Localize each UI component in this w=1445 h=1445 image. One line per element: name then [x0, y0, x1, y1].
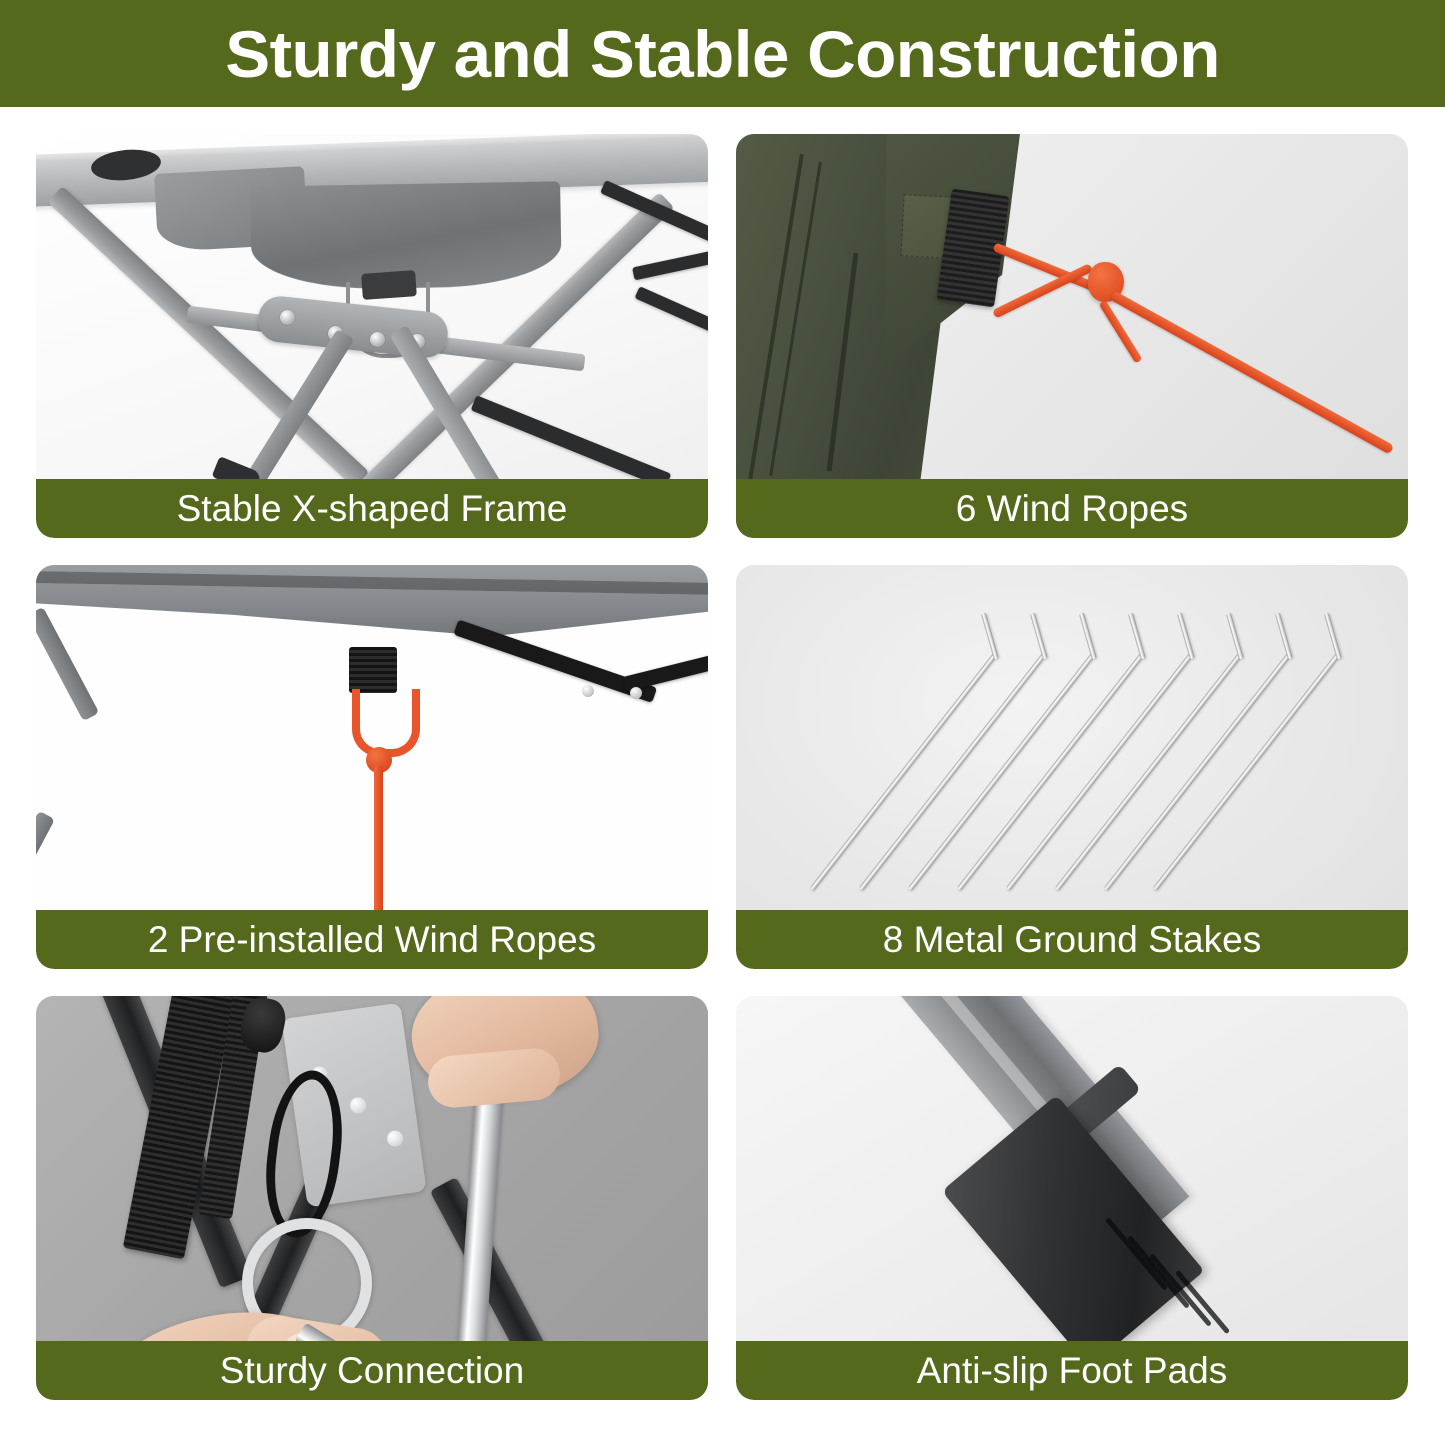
caption-label: 2 Pre-installed Wind Ropes: [148, 921, 596, 958]
caption-label: Anti-slip Foot Pads: [917, 1352, 1228, 1389]
caption-label: Stable X-shaped Frame: [177, 490, 568, 527]
caption-bar-ground-stakes: 8 Metal Ground Stakes: [736, 910, 1408, 969]
feature-panel-wind-ropes[interactable]: 6 Wind Ropes: [736, 134, 1408, 538]
feature-panel-ground-stakes[interactable]: 8 Metal Ground Stakes: [736, 565, 1408, 969]
caption-label: 8 Metal Ground Stakes: [883, 921, 1261, 958]
feature-panel-grid: Stable X-shaped Frame 6 Wind Ropes: [36, 134, 1408, 1400]
caption-bar-x-frame: Stable X-shaped Frame: [36, 479, 708, 538]
feature-panel-sturdy-connection[interactable]: Sturdy Connection: [36, 996, 708, 1400]
caption-bar-sturdy-connection: Sturdy Connection: [36, 1341, 708, 1400]
header-banner: Sturdy and Stable Construction: [0, 0, 1445, 107]
product-photo-preinstalled-ropes: [36, 565, 708, 969]
feature-panel-foot-pads[interactable]: Anti-slip Foot Pads: [736, 996, 1408, 1400]
product-photo-x-frame: [36, 134, 708, 538]
caption-bar-wind-ropes: 6 Wind Ropes: [736, 479, 1408, 538]
feature-panel-x-frame[interactable]: Stable X-shaped Frame: [36, 134, 708, 538]
product-photo-wind-ropes: [736, 134, 1408, 538]
caption-bar-preinstalled-ropes: 2 Pre-installed Wind Ropes: [36, 910, 708, 969]
product-photo-foot-pads: [736, 996, 1408, 1400]
product-photo-sturdy-connection: [36, 996, 708, 1400]
page-title: Sturdy and Stable Construction: [225, 21, 1220, 87]
caption-label: Sturdy Connection: [220, 1352, 524, 1389]
product-photo-ground-stakes: [736, 565, 1408, 969]
caption-label: 6 Wind Ropes: [956, 490, 1188, 527]
caption-bar-foot-pads: Anti-slip Foot Pads: [736, 1341, 1408, 1400]
feature-panel-preinstalled-ropes[interactable]: 2 Pre-installed Wind Ropes: [36, 565, 708, 969]
